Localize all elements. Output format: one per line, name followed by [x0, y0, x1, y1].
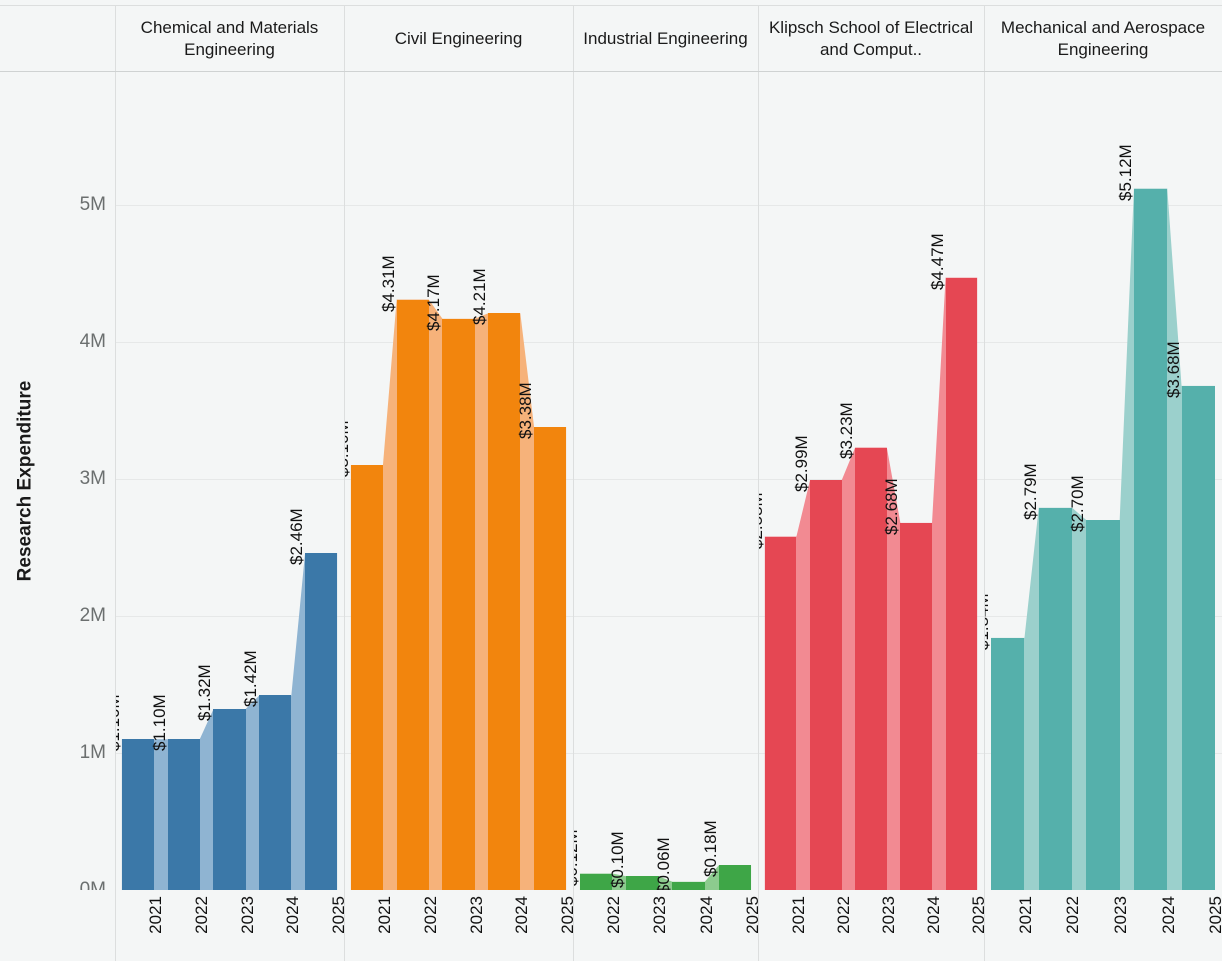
x-axis-tick-label: 2023 — [1111, 896, 1131, 934]
bar-value-label: $1.32M — [195, 664, 215, 721]
bar-value-label: $2.46M — [287, 508, 307, 565]
bar[interactable] — [1134, 189, 1167, 890]
facet-header-label: Klipsch School of Electrical and Comput.… — [762, 17, 980, 61]
bar[interactable] — [1086, 520, 1119, 890]
bar-value-label: $3.23M — [837, 403, 857, 460]
facet-divider — [115, 72, 116, 890]
x-axis-tick-label: 2021 — [1016, 896, 1036, 934]
bar-value-label: $1.10M — [115, 695, 124, 752]
facet-panel-3: $0.12M$0.10M$0.06M$0.18M — [573, 72, 758, 890]
y-axis-tick-label: 4M — [16, 331, 106, 353]
bar[interactable] — [305, 553, 337, 890]
facet-header-divider — [984, 6, 985, 71]
facet-header-divider — [344, 6, 345, 71]
x-axis-facet-divider — [115, 890, 116, 961]
x-axis-tick-label: 2025 — [1206, 896, 1222, 934]
y-axis-tick-label: 5M — [16, 194, 106, 216]
bar[interactable] — [442, 319, 474, 890]
facet-panel-4: $2.58M$2.99M$3.23M$2.68M$4.47M — [758, 72, 984, 890]
facet-header-label: Civil Engineering — [395, 28, 523, 50]
x-axis-facet-divider — [984, 890, 985, 961]
bar[interactable] — [900, 523, 932, 890]
x-axis-facet-divider — [344, 890, 345, 961]
bar[interactable] — [765, 537, 797, 890]
facet-header-4: Klipsch School of Electrical and Comput.… — [758, 6, 984, 71]
facet-divider — [344, 72, 345, 890]
bar[interactable] — [946, 278, 978, 890]
bar-value-label: $0.06M — [654, 837, 674, 890]
bar[interactable] — [1182, 386, 1215, 890]
x-axis-tick-label: 2022 — [421, 896, 441, 934]
facet-header-2: Civil Engineering — [344, 6, 573, 71]
bar-value-label: $4.21M — [470, 269, 490, 326]
bar-value-label: $0.12M — [573, 829, 582, 886]
x-axis-tick-label: 2025 — [743, 896, 763, 934]
bar-value-label: $2.68M — [882, 478, 902, 535]
bar-value-label: $4.17M — [424, 274, 444, 331]
bar-value-label: $1.42M — [241, 651, 261, 708]
bar-value-label: $5.12M — [1116, 144, 1136, 201]
y-axis-tick-label: 1M — [16, 742, 106, 764]
bar-value-label: $1.84M — [984, 593, 993, 650]
bar[interactable] — [351, 465, 383, 890]
x-axis-tick-label: 2024 — [924, 896, 944, 934]
facet-header-divider — [115, 6, 116, 71]
bar-value-label: $2.70M — [1068, 475, 1088, 532]
bar-value-label: $3.68M — [1164, 341, 1184, 398]
facet-header-1: Chemical and Materials Engineering — [115, 6, 344, 71]
bar-value-label: $2.79M — [1021, 463, 1041, 520]
x-axis-tick-label: 2023 — [238, 896, 258, 934]
x-axis-tick-label: 2025 — [969, 896, 989, 934]
bar-value-label: $2.99M — [792, 436, 812, 493]
x-axis-tick-label: 2022 — [604, 896, 624, 934]
facet-header-label: Industrial Engineering — [583, 28, 747, 50]
bar[interactable] — [397, 300, 429, 890]
x-axis-tick-label: 2021 — [789, 896, 809, 934]
bar[interactable] — [168, 739, 200, 890]
bar[interactable] — [672, 882, 704, 890]
x-axis-tick-label: 2022 — [1063, 896, 1083, 934]
bar[interactable] — [534, 427, 566, 890]
bar-value-label: $4.31M — [379, 255, 399, 312]
y-axis-tick-label: 2M — [16, 605, 106, 627]
bar-value-label: $3.10M — [344, 421, 353, 478]
bar-value-label: $3.38M — [516, 382, 536, 439]
bar[interactable] — [1039, 508, 1072, 890]
x-axis-tick-label: 2023 — [879, 896, 899, 934]
x-axis: 2021202220232024202520212022202320242025… — [0, 890, 1222, 961]
facet-header-label: Mechanical and Aerospace Engineering — [988, 17, 1218, 61]
facet-header-5: Mechanical and Aerospace Engineering — [984, 6, 1222, 71]
x-axis-tick-label: 2023 — [467, 896, 487, 934]
facet-header-3: Industrial Engineering — [573, 6, 758, 71]
bar[interactable] — [259, 695, 291, 890]
bar[interactable] — [991, 638, 1024, 890]
x-axis-tick-label: 2021 — [375, 896, 395, 934]
x-axis-tick-label: 2024 — [283, 896, 303, 934]
facet-divider — [758, 72, 759, 890]
facet-panel-5: $1.84M$2.79M$2.70M$5.12M$3.68M — [984, 72, 1222, 890]
bar-value-label: $2.58M — [758, 492, 767, 549]
facet-header-divider — [758, 6, 759, 71]
x-axis-tick-label: 2022 — [834, 896, 854, 934]
x-axis-tick-label: 2024 — [1159, 896, 1179, 934]
bar-value-label: $0.18M — [701, 821, 721, 878]
x-axis-tick-label: 2023 — [650, 896, 670, 934]
bar[interactable] — [122, 739, 154, 890]
chart-root: . . . . Chemical and Materials Engineeri… — [0, 0, 1222, 961]
x-axis-tick-label: 2021 — [146, 896, 166, 934]
x-axis-tick-label: 2025 — [558, 896, 578, 934]
facet-divider — [984, 72, 985, 890]
facet-header-divider — [573, 6, 574, 71]
facet-panel-1: $1.10M$1.10M$1.32M$1.42M$2.46M — [115, 72, 344, 890]
trend-area — [573, 72, 758, 890]
bar[interactable] — [719, 865, 751, 890]
facet-header-band: Chemical and Materials EngineeringCivil … — [0, 0, 1222, 72]
bar[interactable] — [810, 480, 842, 890]
x-axis-tick-label: 2024 — [512, 896, 532, 934]
bar[interactable] — [213, 709, 245, 890]
bar-value-label: $1.10M — [150, 695, 170, 752]
plot-area: Research Expenditure 0M1M2M3M4M5M $1.10M… — [0, 72, 1222, 890]
facet-divider — [573, 72, 574, 890]
x-axis-facet-divider — [573, 890, 574, 961]
x-axis-tick-label: 2022 — [192, 896, 212, 934]
bar-value-label: $0.10M — [608, 832, 628, 889]
x-axis-facet-divider — [758, 890, 759, 961]
facet-panel-2: $3.10M$4.31M$4.17M$4.21M$3.38M — [344, 72, 573, 890]
facet-header-label: Chemical and Materials Engineering — [119, 17, 340, 61]
bar-value-label: $4.47M — [928, 233, 948, 290]
x-axis-tick-label: 2025 — [329, 896, 349, 934]
x-axis-tick-label: 2024 — [697, 896, 717, 934]
y-axis-tick-label: 3M — [16, 468, 106, 490]
